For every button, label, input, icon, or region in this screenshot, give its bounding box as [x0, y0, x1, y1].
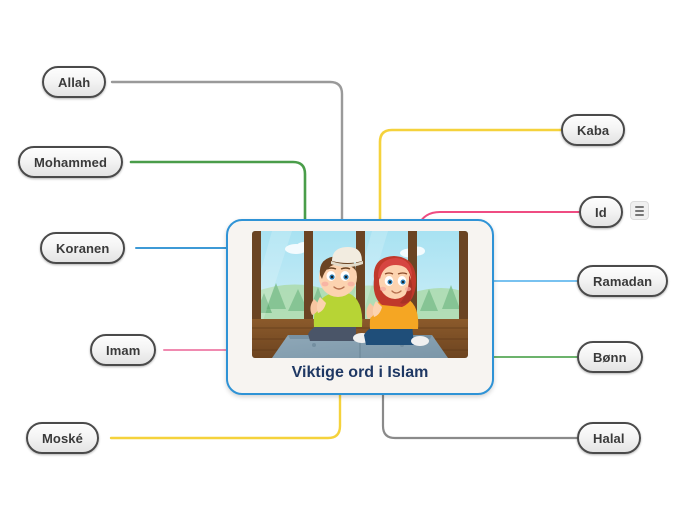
central-node[interactable]: Viktige ord i Islam: [226, 219, 494, 395]
central-node-title: Viktige ord i Islam: [292, 364, 429, 382]
node-label: Ramadan: [593, 274, 652, 289]
node-moske[interactable]: Moské: [26, 422, 99, 454]
node-label: Koranen: [56, 241, 109, 256]
node-label: Id: [595, 205, 607, 220]
hamburger-line: [635, 206, 644, 208]
connector-mohammed: [131, 162, 305, 219]
node-halal[interactable]: Halal: [577, 422, 641, 454]
node-imam[interactable]: Imam: [90, 334, 156, 366]
connector-allah: [112, 82, 342, 219]
node-mohammed[interactable]: Mohammed: [18, 146, 123, 178]
node-label: Moské: [42, 431, 83, 446]
node-label: Allah: [58, 75, 90, 90]
node-koranen[interactable]: Koranen: [40, 232, 125, 264]
node-kaba[interactable]: Kaba: [561, 114, 625, 146]
node-label: Imam: [106, 343, 140, 358]
connector-kaba: [380, 130, 561, 219]
node-label: Kaba: [577, 123, 609, 138]
node-label: Mohammed: [34, 155, 107, 170]
connector-halal: [383, 395, 577, 438]
central-illustration: [252, 231, 468, 358]
node-id[interactable]: Id: [579, 196, 623, 228]
node-ramadan[interactable]: Ramadan: [577, 265, 668, 297]
hamburger-line: [635, 214, 644, 216]
node-bonn[interactable]: Bønn: [577, 341, 643, 373]
connector-moske: [111, 395, 340, 438]
node-label: Halal: [593, 431, 625, 446]
hamburger-menu-icon[interactable]: [631, 202, 648, 219]
hamburger-line: [635, 210, 644, 212]
node-allah[interactable]: Allah: [42, 66, 106, 98]
mindmap-canvas: Viktige ord i Islam AllahMohammedKoranen…: [0, 0, 696, 520]
node-label: Bønn: [593, 350, 627, 365]
